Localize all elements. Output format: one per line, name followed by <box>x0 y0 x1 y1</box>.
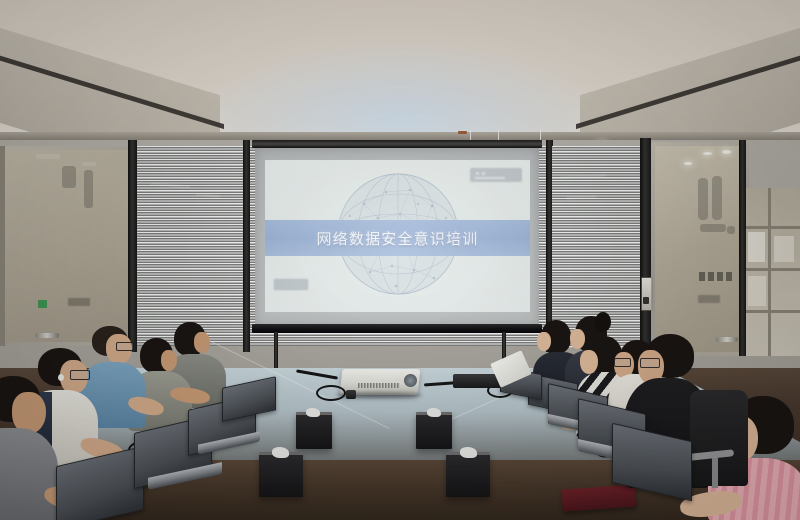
attendee-right-6-face <box>537 332 551 351</box>
left-door-frame-edge <box>0 146 5 346</box>
attendee-left-6-face <box>194 332 210 353</box>
left-door-green-sticker <box>38 300 47 308</box>
projector-lens <box>404 374 417 387</box>
presentation-slide: 网络数据安全意识培训 <box>265 160 530 312</box>
attendee-right-2-glasses <box>640 358 660 368</box>
attendee-right-5-face <box>570 329 585 349</box>
screen-bottom-bar <box>252 324 542 333</box>
left-door-sign <box>68 298 90 306</box>
slide-title-band: 网络数据安全意识培训 <box>265 220 530 256</box>
screen-top-bar <box>252 140 542 148</box>
tissue-paper-3 <box>272 447 289 458</box>
attendee-right-5-ponytail <box>595 312 611 332</box>
left-door-handle[interactable] <box>35 333 59 338</box>
right-door-sign <box>698 295 720 303</box>
right-office-shelving <box>745 188 800 356</box>
projection-screen: 网络数据安全意识培训 <box>252 140 542 335</box>
shelf-item-2 <box>774 236 794 262</box>
office-chair-post <box>712 458 718 488</box>
logo-dot-2 <box>482 172 485 175</box>
attendee-left-3-glasses <box>70 370 90 380</box>
shelf-line-3 <box>745 310 800 313</box>
attendee-left-5-face <box>161 350 177 371</box>
left-window-blinds <box>137 146 245 346</box>
left-ceiling-projector-reflection <box>62 166 76 188</box>
door-access-panel-button[interactable] <box>643 297 649 304</box>
office-chair[interactable] <box>690 390 748 486</box>
tissue-paper-1 <box>306 408 320 417</box>
right-glass-reflection-shape-2 <box>712 176 722 220</box>
network-switch <box>453 374 501 388</box>
cable-coil-1 <box>316 385 346 401</box>
attendee-right-3-glasses <box>614 358 631 367</box>
tissue-paper-4 <box>460 447 477 458</box>
tissue-box-4 <box>446 452 490 497</box>
shelf-item-3 <box>748 276 766 306</box>
tissue-box-2 <box>416 412 452 449</box>
meeting-room-photo: 网络数据安全意识培训 <box>0 0 800 520</box>
shelf-line-1 <box>745 226 800 229</box>
right-glass-reflection-shape-4 <box>727 226 735 234</box>
left-partition-mullion <box>128 140 137 352</box>
right-door-handle[interactable] <box>716 337 738 342</box>
slide-title-text: 网络数据安全意识培训 <box>316 228 478 249</box>
left-reflection-column <box>84 170 93 208</box>
attendee-left-4-glasses <box>116 342 134 351</box>
tissue-box-3 <box>259 452 303 497</box>
screen-surface: 网络数据安全意识培训 <box>255 148 539 326</box>
logo-bar <box>475 177 505 179</box>
left-blinds-mullion-right <box>243 140 250 352</box>
right-wall-end-mullion <box>739 140 746 356</box>
tissue-box-1 <box>296 412 332 449</box>
attendee-right-4-face <box>580 350 598 374</box>
right-office-interior <box>655 146 745 352</box>
left-glass-reflection-2 <box>82 162 96 166</box>
attendee-left-3-earbud <box>58 374 64 381</box>
tissue-paper-2 <box>427 408 441 417</box>
ceiling-clip <box>458 131 467 134</box>
right-office-downlight-2 <box>722 150 731 154</box>
right-partition-mullion <box>640 138 651 356</box>
projector-vent <box>358 383 400 388</box>
slide-subtitle-placeholder <box>273 278 309 291</box>
desk-microphone-1 <box>346 390 356 399</box>
slide-logo-watermark <box>470 168 522 182</box>
shelf-line-2 <box>745 268 800 271</box>
left-glass-reflection-1 <box>36 154 60 159</box>
right-office-downlight-3 <box>684 162 692 165</box>
logo-dot-1 <box>476 172 479 175</box>
shelf-item-1 <box>748 232 765 262</box>
right-door-switches[interactable] <box>699 272 733 281</box>
right-glass-reflection-shape-3 <box>700 224 726 232</box>
right-office-downlight-1 <box>703 152 712 155</box>
right-glass-reflection-shape-1 <box>698 178 708 220</box>
shelf-divider <box>768 188 771 356</box>
